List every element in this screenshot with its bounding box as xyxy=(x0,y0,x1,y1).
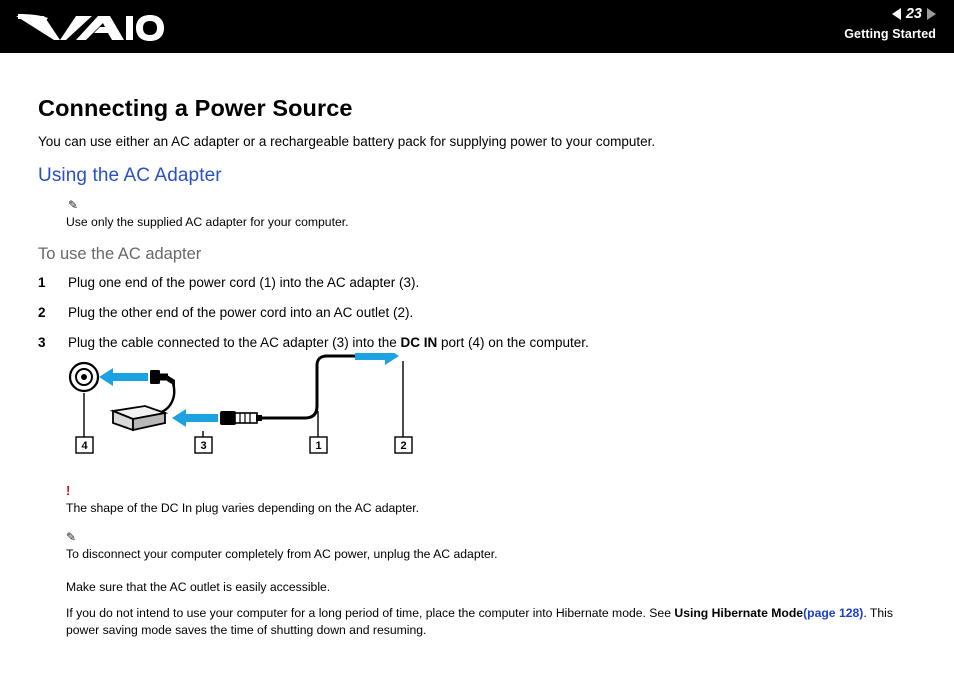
note-caution: ! The shape of the DC In plug varies dep… xyxy=(66,485,419,515)
header-bar: 23 Getting Started xyxy=(0,0,954,53)
step-text: Plug the other end of the power cord int… xyxy=(68,305,413,320)
ac-adapter-icon xyxy=(113,406,165,430)
page-number: 23 xyxy=(906,5,922,23)
hibernate-bold: Using Hibernate Mode xyxy=(674,606,803,620)
pencil-note-icon: ✎ xyxy=(68,199,349,213)
intro-paragraph: You can use either an AC adapter or a re… xyxy=(38,134,655,149)
step-text-after: port (4) on the computer. xyxy=(437,335,589,350)
note-top: ✎ Use only the supplied AC adapter for y… xyxy=(66,199,349,229)
step-item: 1 Plug one end of the power cord (1) int… xyxy=(38,275,419,290)
dc-plug-icon xyxy=(150,370,175,386)
callout-3: 3 xyxy=(195,437,212,453)
exclamation-note-icon: ! xyxy=(66,485,419,499)
vaio-logo xyxy=(14,6,164,46)
step-text-before: Plug the cable connected to the AC adapt… xyxy=(68,335,400,350)
arrow-right-icon[interactable] xyxy=(927,8,936,20)
callout-4: 4 xyxy=(76,437,93,453)
step-number: 2 xyxy=(38,305,60,320)
arrow-left-blue-icon xyxy=(99,368,148,386)
page-128-link[interactable]: (page 128) xyxy=(803,606,863,620)
step-item: 3 Plug the cable connected to the AC ada… xyxy=(38,335,589,350)
note-bottom-text: To disconnect your computer completely f… xyxy=(66,547,498,561)
howto-heading: To use the AC adapter xyxy=(38,245,201,264)
header-nav: 23 Getting Started xyxy=(844,5,936,41)
power-cord-connector-icon xyxy=(220,411,262,425)
callout-2: 2 xyxy=(395,437,412,453)
pencil-note-icon: ✎ xyxy=(66,531,498,545)
section-subheading: Using the AC Adapter xyxy=(38,165,222,187)
paragraph-outlet-access: Make sure that the AC outlet is easily a… xyxy=(66,580,330,594)
svg-text:1: 1 xyxy=(315,440,321,452)
svg-text:4: 4 xyxy=(81,440,88,452)
note-caution-text: The shape of the DC In plug varies depen… xyxy=(66,501,419,515)
step-item: 2 Plug the other end of the power cord i… xyxy=(38,305,413,320)
svg-text:2: 2 xyxy=(400,440,406,452)
arrow-left-blue-icon-2 xyxy=(172,409,218,427)
note-top-text: Use only the supplied AC adapter for you… xyxy=(66,215,349,229)
step-text: Plug the cable connected to the AC adapt… xyxy=(68,335,589,350)
step-text: Plug one end of the power cord (1) into … xyxy=(68,275,419,290)
section-label: Getting Started xyxy=(844,27,936,41)
step-text-bold: DC IN xyxy=(400,335,437,350)
step-number: 1 xyxy=(38,275,60,290)
dc-in-port-icon xyxy=(70,363,98,391)
arrow-right-blue-icon xyxy=(355,353,399,365)
svg-text:3: 3 xyxy=(200,440,206,452)
page-title: Connecting a Power Source xyxy=(38,95,353,122)
ac-adapter-diagram: 4 3 1 2 xyxy=(55,353,435,478)
note-bottom: ✎ To disconnect your computer completely… xyxy=(66,531,498,561)
paragraph-hibernate: If you do not intend to use your compute… xyxy=(66,605,926,639)
arrow-left-icon[interactable] xyxy=(892,8,901,20)
callout-1: 1 xyxy=(310,437,327,453)
page-content: Connecting a Power Source You can use ei… xyxy=(0,53,954,674)
hibernate-text-before: If you do not intend to use your compute… xyxy=(66,606,674,620)
step-number: 3 xyxy=(38,335,60,350)
